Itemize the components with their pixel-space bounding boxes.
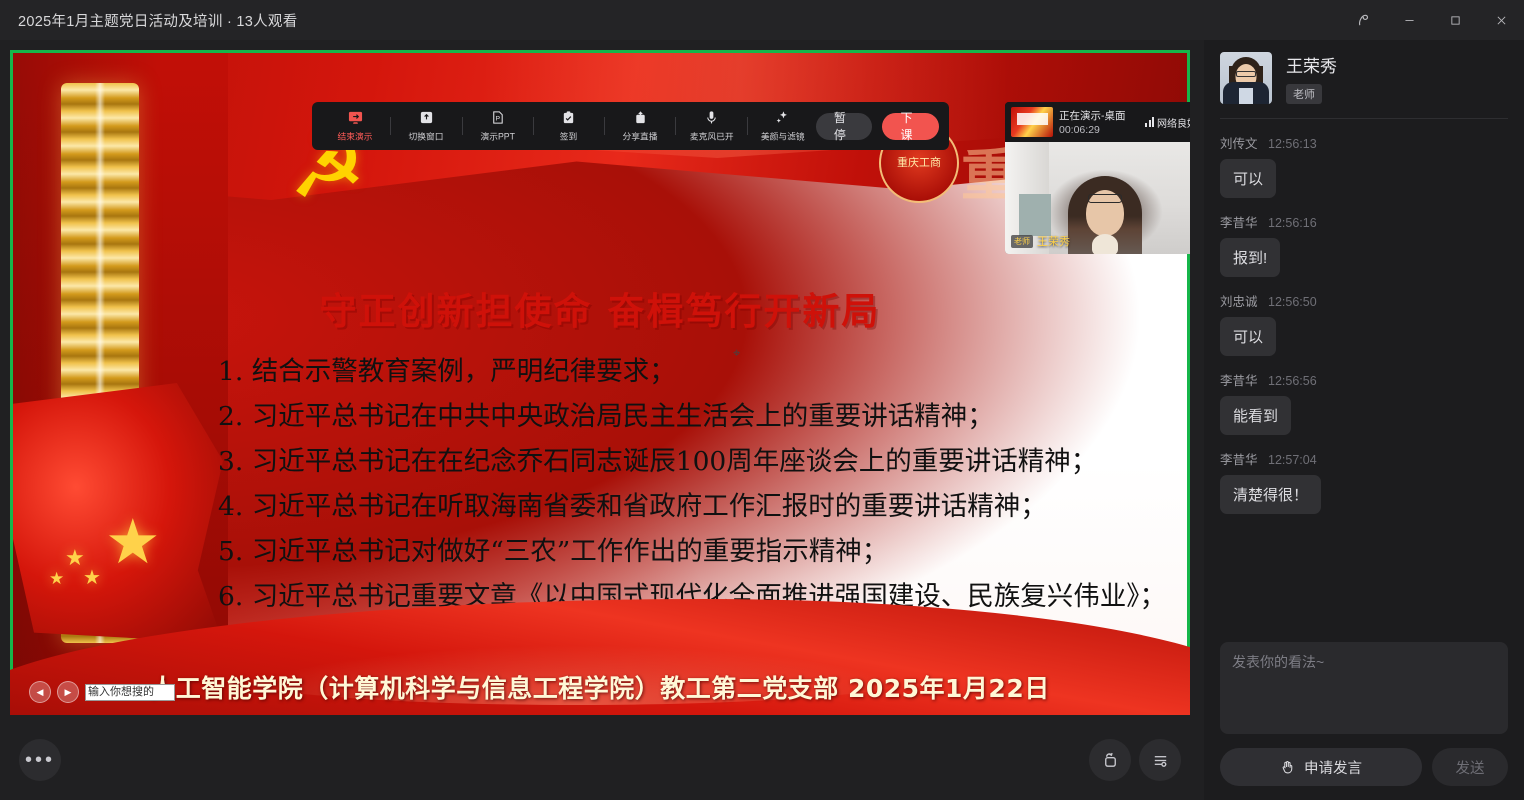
slide-footer-banner: 人工智能学院（计算机科学与信息工程学院）教工第二党支部 2025年1月22日 [13, 659, 1187, 715]
slide-bullet: 5. 习近平总书记对做好“三农”工作作出的重要指示精神； [218, 529, 1171, 574]
pause-button[interactable]: 暂停 [816, 113, 873, 140]
toolbar-divider [533, 117, 534, 135]
toolbar-end-present-label: 结束演示 [338, 130, 373, 143]
settings-button[interactable] [1139, 739, 1181, 781]
share-screen-button[interactable] [1089, 739, 1131, 781]
self-view-role-tag: 老师 [1011, 235, 1033, 248]
network-status-label: 网络良好 [1157, 115, 1190, 130]
toolbar-divider [390, 117, 391, 135]
chat-message-time: 12:56:50 [1268, 295, 1317, 309]
chat-message-meta: 刘传文 12:56:13 [1220, 133, 1508, 152]
video-person [1068, 176, 1142, 254]
shared-screen-thumbnail [1011, 107, 1053, 137]
presentation-timer: 00:06:29 [1059, 124, 1126, 136]
chat-message-time: 12:56:56 [1268, 374, 1317, 388]
signal-bars-icon [1145, 117, 1154, 127]
self-view-status-text: 正在演示-桌面 00:06:29 [1059, 108, 1126, 136]
toolbar-divider [747, 117, 748, 135]
toolbar-share-live[interactable]: 分享直播 [607, 109, 673, 143]
self-view-name: 王荣秀 [1037, 233, 1070, 249]
slide-bullet: 2. 习近平总书记在中共中央政治局民主生活会上的重要讲话精神； [218, 394, 1171, 439]
slide-decor-star-small-3: ★ [49, 569, 64, 589]
chat-message: 李昔华 12:56:56 能看到 [1220, 370, 1508, 435]
svg-text:P: P [496, 115, 501, 122]
toolbar-divider [675, 117, 676, 135]
chat-message-list[interactable]: 刘传文 12:56:13 可以 李昔华 12:56:16 报到! 刘忠诚 12:… [1204, 119, 1524, 642]
right-panel: 王荣秀 老师 刘传文 12:56:13 可以 李昔华 12:56:16 报到! [1204, 40, 1524, 800]
window-controls [1340, 0, 1524, 40]
chat-message-time: 12:57:04 [1268, 453, 1317, 467]
host-role-badge: 老师 [1286, 84, 1322, 104]
self-view-video[interactable]: 老师 王荣秀 [1005, 142, 1190, 254]
composer-actions: 申请发言 发送 [1220, 748, 1508, 786]
slide-decor-star-small-2: ★ [83, 565, 101, 590]
host-info: 王荣秀 老师 [1286, 52, 1337, 104]
chat-message: 李昔华 12:56:16 报到! [1220, 212, 1508, 277]
video-person-glasses [1088, 194, 1122, 203]
chat-message-user: 李昔华 [1220, 374, 1258, 388]
maximize-icon[interactable] [1432, 0, 1478, 40]
slide-title: 守正创新担使命 奋楫笃行开新局 [13, 281, 1187, 335]
toolbar-share-live-label: 分享直播 [623, 130, 658, 143]
rotate-square-icon [1101, 751, 1120, 770]
chat-message-meta: 李昔华 12:57:04 [1220, 449, 1508, 468]
hand-icon [1280, 759, 1296, 775]
chat-message-text: 可以 [1220, 159, 1276, 198]
bottom-bar: ••• [0, 722, 1200, 800]
stop-present-icon [347, 109, 363, 125]
slide-search-input[interactable]: 输入你想搜的 [85, 684, 175, 701]
chat-message-text: 清楚得很！ [1220, 475, 1321, 514]
search-prev-icon[interactable]: ◀ [29, 681, 51, 703]
toolbar-microphone-label: 麦克风已开 [690, 130, 734, 143]
microphone-icon [703, 109, 719, 125]
toolbar-beauty-filter[interactable]: 美颜与滤镜 [750, 109, 816, 143]
beauty-filter-icon [775, 109, 791, 125]
chat-message: 刘传文 12:56:13 可以 [1220, 133, 1508, 198]
self-view-header: 正在演示-桌面 00:06:29 网络良好 [1005, 102, 1190, 142]
window-title: 2025年1月主题党日活动及培训 · 13人观看 [18, 10, 298, 31]
close-icon[interactable] [1478, 0, 1524, 40]
avatar [1220, 52, 1272, 104]
self-view-nameplate: 老师 王荣秀 [1011, 233, 1070, 249]
mouse-cursor-icon: ⌖ [733, 345, 747, 361]
chat-message-text: 可以 [1220, 317, 1276, 356]
more-options-button[interactable]: ••• [19, 739, 61, 781]
self-view-panel[interactable]: 正在演示-桌面 00:06:29 网络良好 老师 王荣秀 [1005, 102, 1190, 254]
slide-decor-star-small-1: ★ [65, 545, 85, 571]
raise-hand-label: 申请发言 [1304, 757, 1362, 778]
end-class-button[interactable]: 下课 [882, 113, 939, 140]
chat-message: 刘忠诚 12:56:50 可以 [1220, 291, 1508, 356]
present-ppt-icon: P [490, 109, 506, 125]
minimize-icon[interactable] [1386, 0, 1432, 40]
toolbar-divider [604, 117, 605, 135]
send-button[interactable]: 发送 [1432, 748, 1508, 786]
slide-search-overlay[interactable]: ◀ ▶ 输入你想搜的 [29, 681, 175, 703]
avatar-glasses-icon [1236, 71, 1256, 77]
presenter-toolbar[interactable]: 结束演示 切换窗口 P 演示PPT 签到 [312, 102, 949, 150]
shared-screen-stage[interactable]: ★ ★ ★ ★ ☭ 重庆工商 重 守正创新担使命 奋楫笃行开新局 1. 结合示警… [10, 50, 1190, 715]
toolbar-check-in-label: 签到 [560, 130, 577, 143]
chat-message: 李昔华 12:57:04 清楚得很！ [1220, 449, 1508, 514]
chat-message-meta: 李昔华 12:56:56 [1220, 370, 1508, 389]
slide-bullet: 4. 习近平总书记在听取海南省委和省政府工作汇报时的重要讲话精神； [218, 484, 1171, 529]
share-live-icon [632, 109, 648, 125]
network-status: 网络良好 [1145, 115, 1190, 130]
chat-message-meta: 李昔华 12:56:16 [1220, 212, 1508, 231]
chat-message-user: 刘传文 [1220, 137, 1258, 151]
toolbar-microphone[interactable]: 麦克风已开 [678, 109, 744, 143]
toolbar-beauty-filter-label: 美颜与滤镜 [761, 130, 805, 143]
toolbar-switch-window[interactable]: 切换窗口 [393, 109, 459, 143]
slide-bullet: 1. 结合示警教育案例，严明纪律要求； [218, 349, 1171, 394]
toolbar-divider [462, 117, 463, 135]
toolbar-end-present[interactable]: 结束演示 [322, 109, 388, 143]
chat-composer: 发表你的看法~ 申请发言 发送 [1204, 642, 1524, 800]
raise-hand-button[interactable]: 申请发言 [1220, 748, 1422, 786]
chat-input[interactable]: 发表你的看法~ [1220, 642, 1508, 734]
check-in-icon [561, 109, 577, 125]
chat-message-time: 12:56:13 [1268, 137, 1317, 151]
avatar-shirt [1239, 88, 1253, 104]
switch-window-icon [418, 109, 434, 125]
toolbar-present-ppt-label: 演示PPT [480, 130, 514, 143]
presenting-status: 正在演示-桌面 [1059, 108, 1126, 123]
toolbar-switch-window-label: 切换窗口 [409, 130, 444, 143]
pin-icon[interactable] [1340, 0, 1386, 40]
slide-decor-star-large: ★ [105, 505, 161, 578]
meeting-window: 2025年1月主题党日活动及培训 · 13人观看 [0, 0, 1524, 800]
chat-message-user: 刘忠诚 [1220, 295, 1258, 309]
chat-message-user: 李昔华 [1220, 453, 1258, 467]
chat-message-text: 报到! [1220, 238, 1280, 277]
host-header: 王荣秀 老师 [1204, 40, 1524, 116]
chat-message-text: 能看到 [1220, 396, 1291, 435]
slide-bullet: 3. 习近平总书记在在纪念乔石同志诞辰100周年座谈会上的重要讲话精神； [218, 439, 1171, 484]
search-next-icon[interactable]: ▶ [57, 681, 79, 703]
sliders-icon [1151, 751, 1170, 770]
video-person-collar [1092, 234, 1118, 254]
chat-message-user: 李昔华 [1220, 216, 1258, 230]
title-bar: 2025年1月主题党日活动及培训 · 13人观看 [0, 0, 1524, 40]
chat-message-time: 12:56:16 [1268, 216, 1317, 230]
toolbar-check-in[interactable]: 签到 [536, 109, 602, 143]
toolbar-present-ppt[interactable]: P 演示PPT [465, 109, 531, 143]
host-name: 王荣秀 [1286, 52, 1337, 77]
video-bg-door [1019, 194, 1051, 237]
toolbar-actions: 暂停 下课 [816, 113, 939, 140]
chat-message-meta: 刘忠诚 12:56:50 [1220, 291, 1508, 310]
